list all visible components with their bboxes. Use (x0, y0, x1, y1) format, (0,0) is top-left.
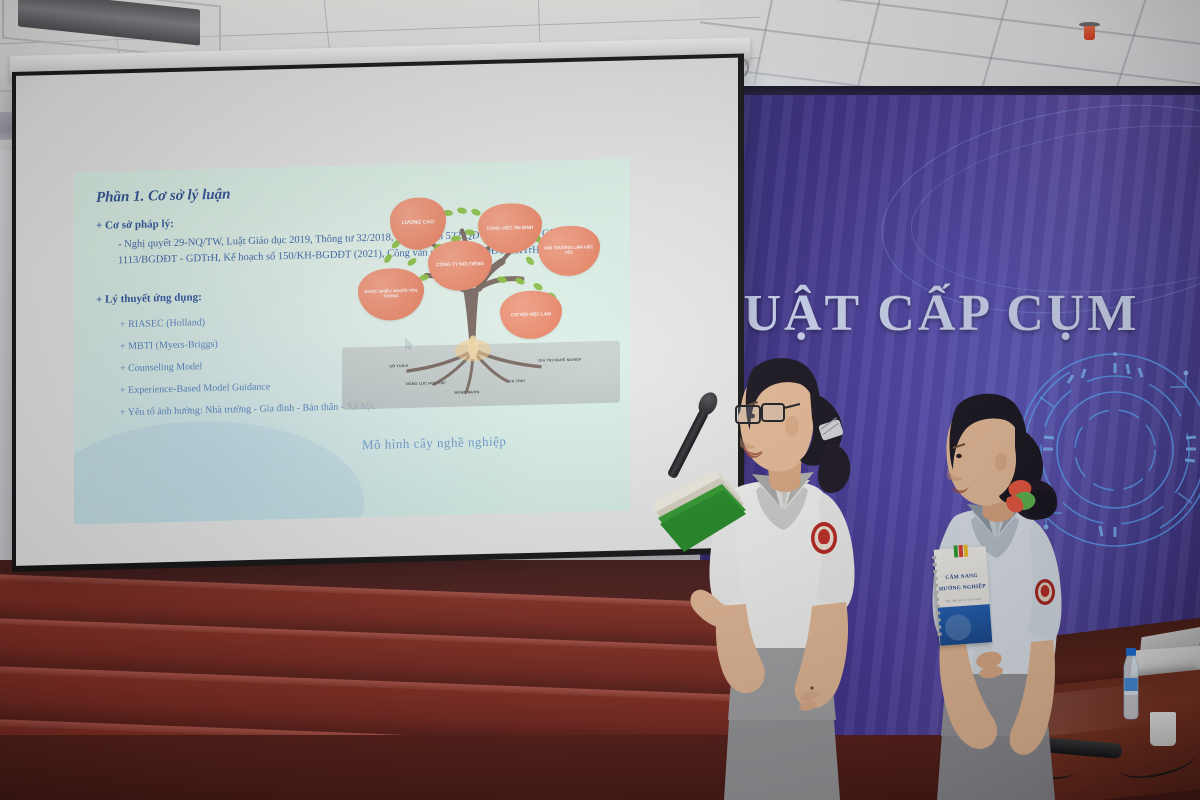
green-folder-with-papers (650, 468, 746, 554)
banner-title-text: HUẬT CẤP CỤM (700, 284, 1130, 343)
slide-title: Phần 1. Cơ sở lý luận (96, 186, 230, 206)
projector-screen: Phần 1. Cơ sở lý luận + Cơ sở pháp lý: -… (12, 53, 744, 572)
projector-screen-surface: Phần 1. Cơ sở lý luận + Cơ sở pháp lý: -… (16, 58, 738, 566)
career-handbook-booklet: CẨM NANG HƯỚNG NGHIỆP Tài liệu hỗ trợ họ… (934, 546, 993, 645)
mouse-cursor-icon (405, 338, 414, 351)
photo-scene: HUẬT CẤP CỤM (0, 0, 1200, 800)
slide-heading-legal: + Cơ sở pháp lý: (96, 218, 174, 232)
career-tree-figure: LƯƠNG CAO CÔNG VIỆC ỔN ĐỊNH MÔI TRƯỜNG L… (342, 181, 620, 418)
booklet-title-line-2: HƯỚNG NGHIỆP (936, 583, 988, 593)
booklet-blue-band (938, 604, 993, 646)
student-presenter-speaker (660, 340, 890, 800)
sprinkler-icon (1083, 22, 1096, 42)
slide-theory-item: + Counseling Model (120, 361, 202, 374)
paper-cup (1150, 712, 1176, 746)
booklet-subtitle: Tài liệu hỗ trợ học sinh (937, 596, 989, 604)
booklet-title-line-1: CẨM NANG (936, 572, 988, 582)
root-label: SỞ THÍCH (380, 364, 418, 369)
root-label: CÁ TÍNH (500, 379, 534, 384)
slide-theory-item: + RIASEC (Holland) (120, 317, 205, 330)
projected-slide: Phần 1. Cơ sở lý luận + Cơ sở pháp lý: -… (74, 158, 630, 524)
water-bottle (1118, 648, 1144, 720)
student-assistant: CẨM NANG HƯỚNG NGHIỆP Tài liệu hỗ trợ họ… (915, 380, 1090, 800)
